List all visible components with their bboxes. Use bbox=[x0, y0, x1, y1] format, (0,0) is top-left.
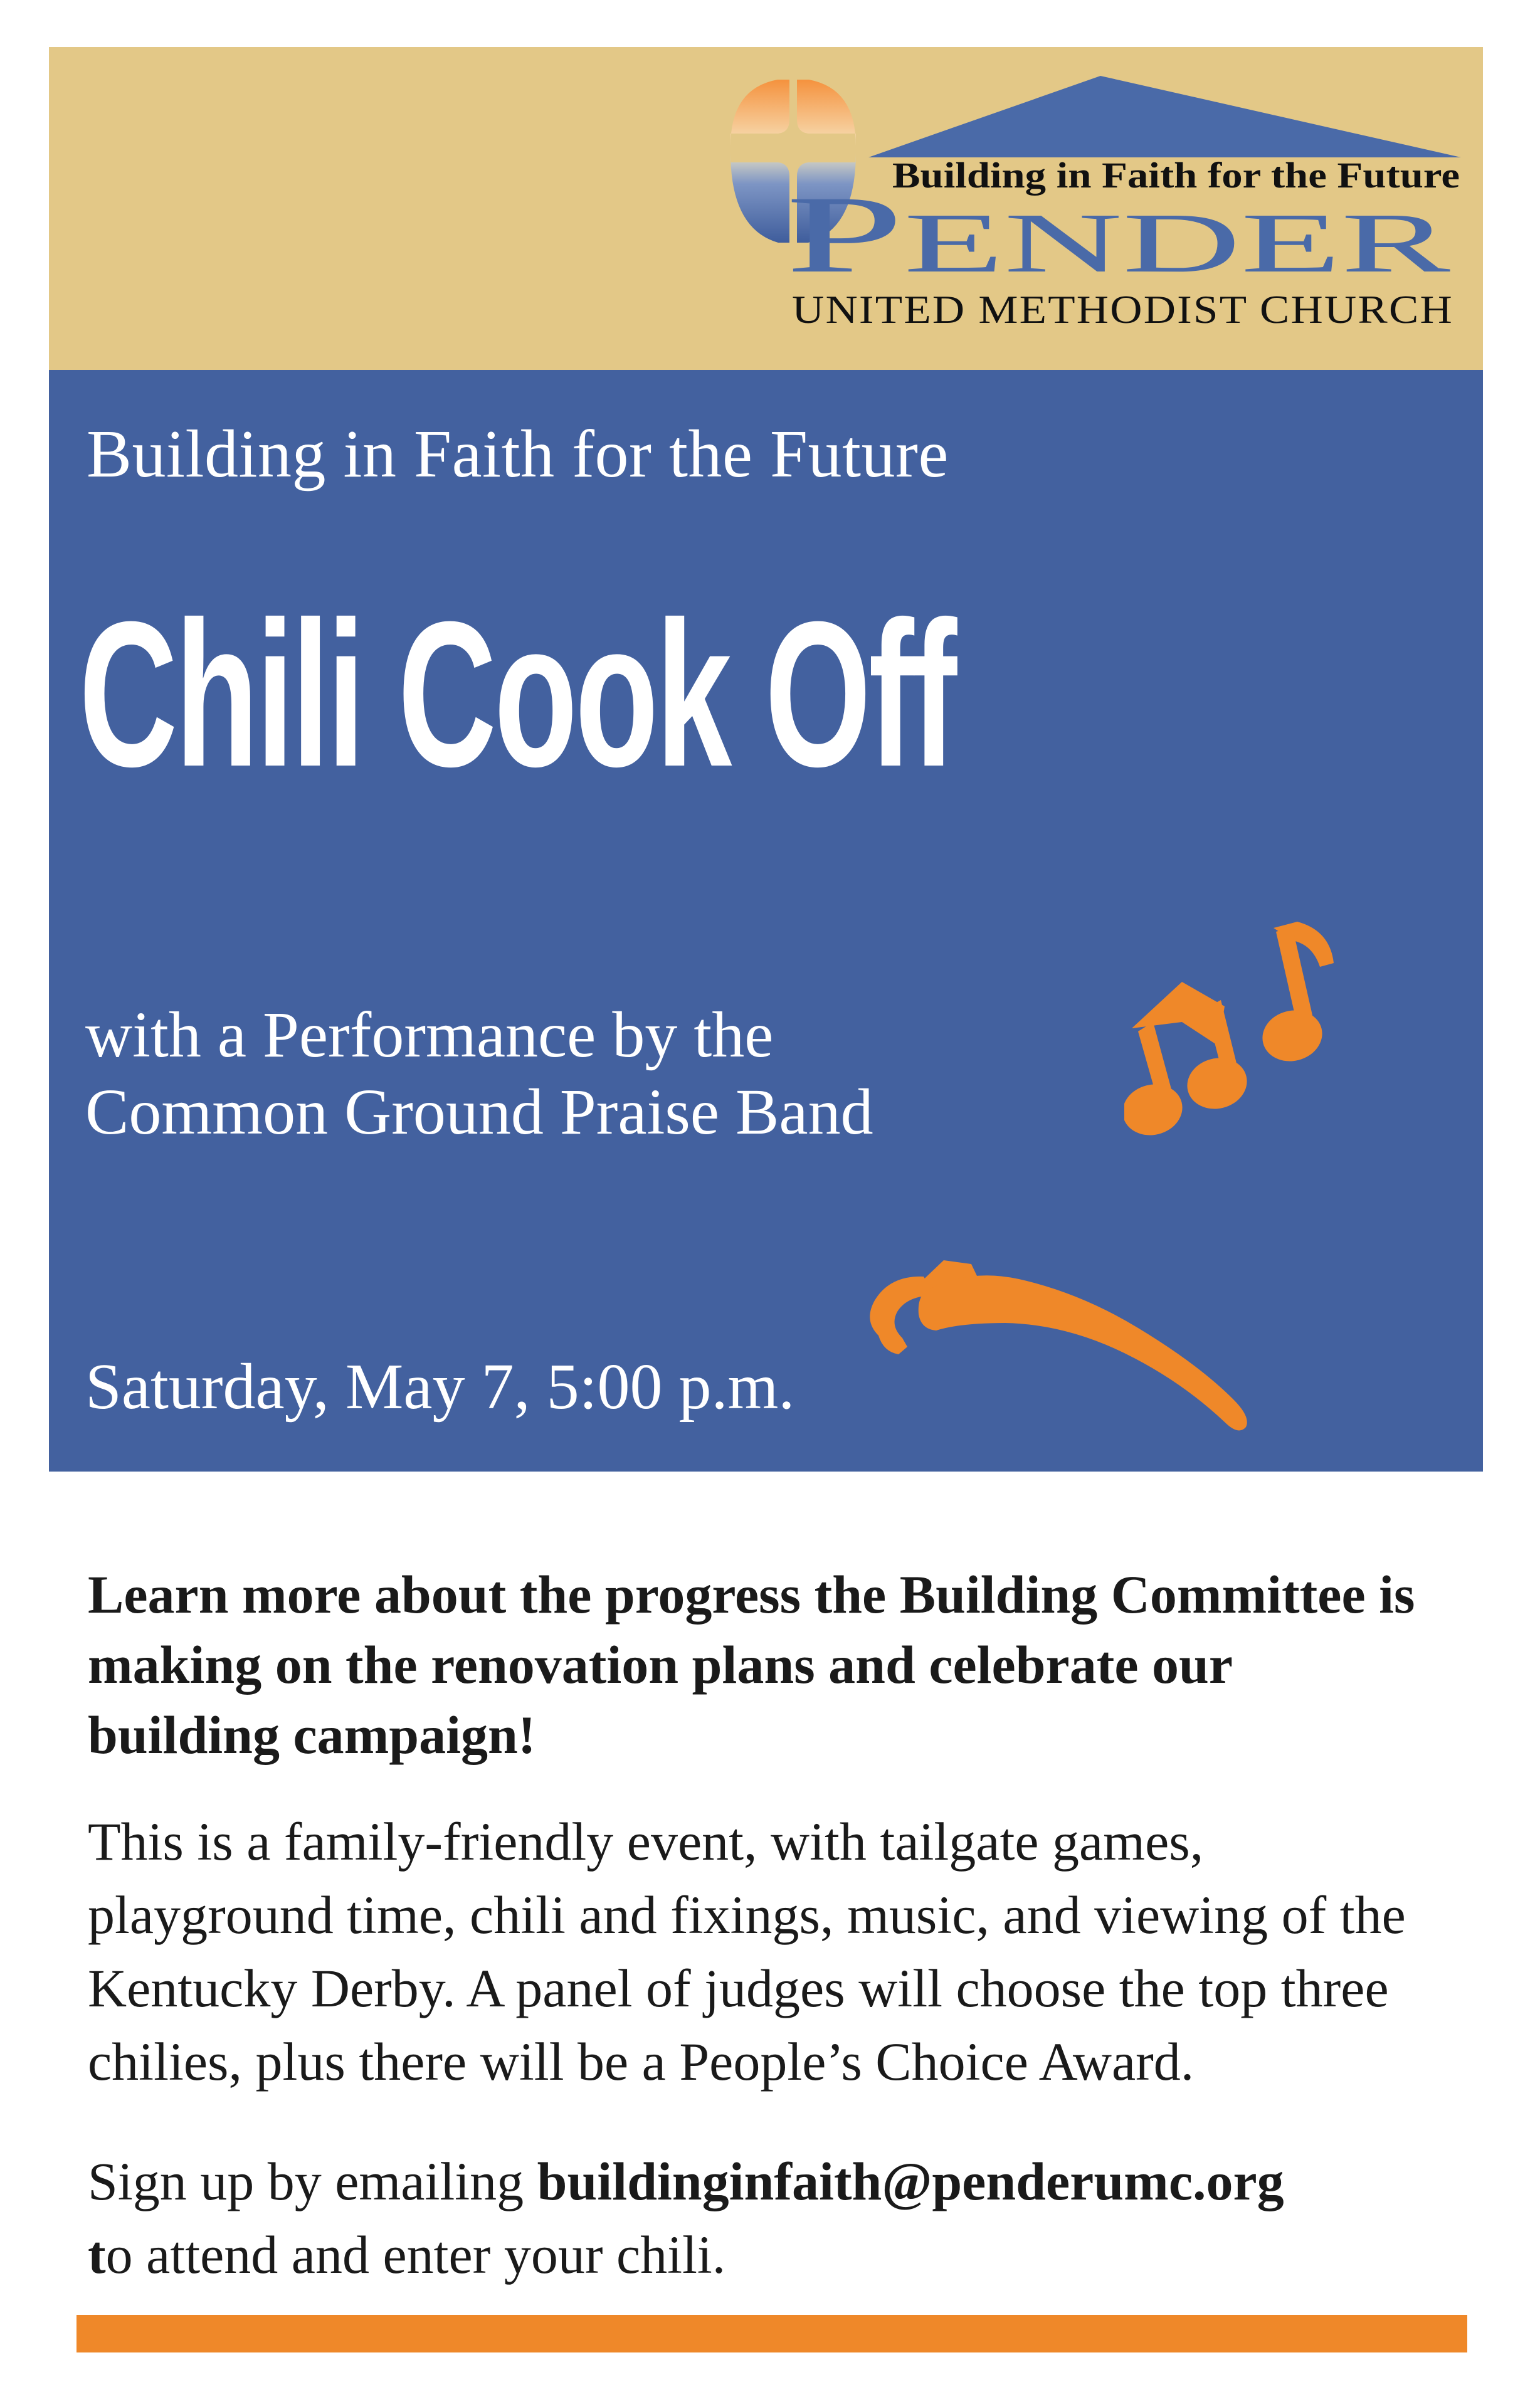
logo-subtitle: UNITED METHODIST CHURCH bbox=[792, 287, 1453, 332]
music-notes-icon bbox=[1124, 922, 1388, 1154]
event-date: Saturday, May 7, 5:00 p.m. bbox=[85, 1351, 794, 1423]
event-description-paragraph: This is a family-friendly event, with ta… bbox=[88, 1805, 1455, 2099]
signup-email[interactable]: buildinginfaith@penderumc.org bbox=[537, 2151, 1284, 2211]
chili-pepper-icon bbox=[855, 1260, 1294, 1448]
signup-suffix: o attend and enter your chili. bbox=[106, 2225, 726, 2285]
body-copy: Learn more about the progress the Buildi… bbox=[88, 1560, 1455, 2292]
hero-subtitle-line2: Common Ground Praise Band bbox=[85, 1074, 873, 1151]
hero-subtitle-line1: with a Performance by the bbox=[85, 997, 873, 1074]
lead-paragraph: Learn more about the progress the Buildi… bbox=[88, 1560, 1417, 1770]
page-title: Chili Cook Off bbox=[79, 596, 954, 793]
footer-accent-bar bbox=[76, 2315, 1467, 2352]
header-band: Building in Faith for the Future PENDER … bbox=[49, 47, 1483, 370]
signup-prefix: Sign up by emailing bbox=[88, 2151, 537, 2211]
hero-subtitle: with a Performance by the Common Ground … bbox=[85, 997, 873, 1151]
hero-kicker: Building in Faith for the Future bbox=[87, 419, 949, 490]
hero-panel: Building in Faith for the Future Chili C… bbox=[49, 370, 1483, 1472]
signup-paragraph: Sign up by emailing buildinginfaith@pend… bbox=[88, 2145, 1455, 2292]
pender-umc-logo: Building in Faith for the Future PENDER … bbox=[712, 65, 1470, 340]
roof-peak-shape bbox=[868, 76, 1461, 157]
logo-tagline: Building in Faith for the Future bbox=[892, 155, 1460, 196]
signup-suffix-bold-char: t bbox=[88, 2225, 106, 2285]
